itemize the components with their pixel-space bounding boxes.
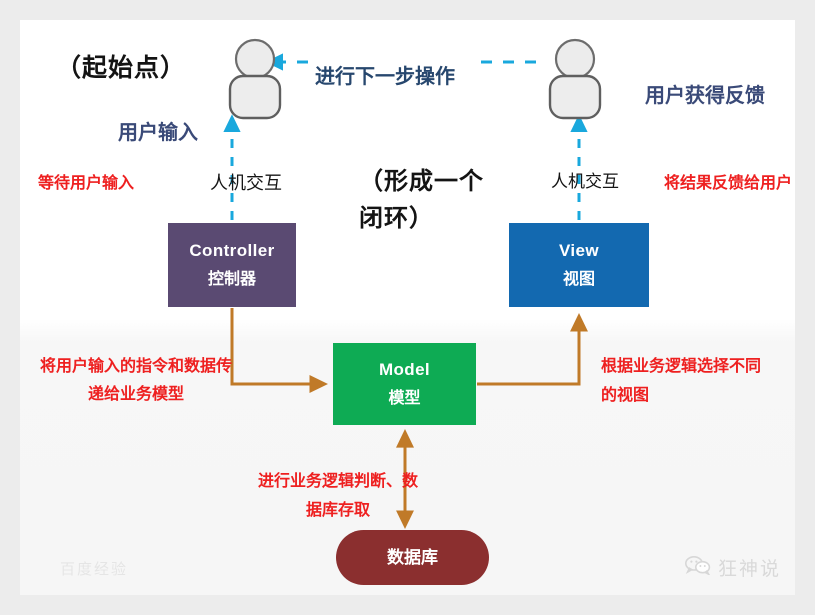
label-next-step: 进行下一步操作: [315, 63, 455, 92]
node-controller[interactable]: Controller 控制器: [168, 223, 296, 307]
watermark-text: 狂神说: [718, 554, 781, 581]
diagram-canvas: Controller 控制器 View 视图 Model 模型 数据库 （起始点…: [20, 20, 795, 595]
label-business-logic: 进行业务逻辑判断、数据库存取: [258, 468, 418, 526]
node-model[interactable]: Model 模型: [333, 343, 476, 425]
wechat-icon: [685, 555, 711, 581]
node-model-en: Model: [379, 359, 430, 380]
node-view-zh: 视图: [563, 270, 595, 290]
person-icon: [219, 38, 291, 125]
label-command-and-data: 将用户输入的指令和数据传递给业务模型: [36, 353, 236, 409]
label-wait-user-input: 等待用户输入: [38, 172, 134, 195]
watermark: 狂神说: [685, 554, 781, 581]
baidu-watermark: 百度经验: [60, 558, 128, 579]
arrow-controller-to-model: [232, 308, 325, 384]
label-user-feedback: 用户获得反馈: [645, 82, 765, 111]
arrow-model-to-view: [477, 316, 579, 384]
node-database[interactable]: 数据库: [336, 530, 489, 585]
label-user-input: 用户输入: [118, 119, 198, 148]
diagram-root: Controller 控制器 View 视图 Model 模型 数据库 （起始点…: [0, 0, 815, 615]
person-icon: [539, 38, 611, 125]
node-database-zh: 数据库: [387, 547, 438, 568]
label-choose-view: 根据业务逻辑选择不同的视图: [601, 353, 761, 411]
label-hci-left: 人机交互: [210, 170, 282, 196]
label-result-to-user: 将结果反馈给用户: [664, 172, 792, 195]
node-controller-en: Controller: [189, 240, 274, 261]
node-controller-zh: 控制器: [208, 270, 256, 290]
label-closed-loop: （形成一个闭环）: [359, 163, 499, 237]
node-model-zh: 模型: [388, 389, 420, 409]
label-start-point: （起始点）: [56, 50, 186, 86]
node-view-en: View: [559, 240, 599, 261]
label-hci-right: 人机交互: [551, 170, 619, 195]
node-view[interactable]: View 视图: [509, 223, 649, 307]
